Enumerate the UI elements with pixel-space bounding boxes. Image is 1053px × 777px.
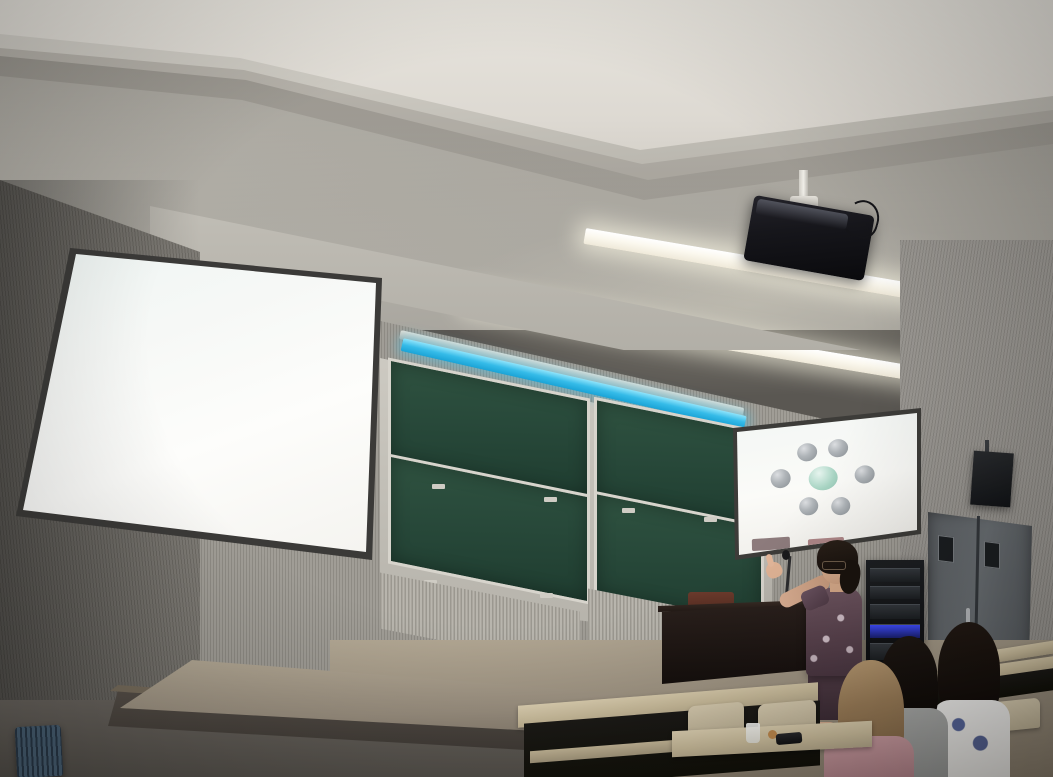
sec-node-1	[828, 439, 848, 458]
av-rack-slot-3	[870, 604, 920, 619]
projected-slide: 综合考试 学术交流 学籍管理 中期考查 学分修读 论文开题 培养工作 国际学术会…	[16, 248, 382, 560]
blackboard-clip-4	[704, 517, 717, 522]
sec-node-4	[799, 497, 818, 516]
wall-speaker-icon	[970, 451, 1014, 508]
sec-center-node	[808, 465, 837, 491]
sec-node-5	[831, 496, 850, 515]
blackboard-clip-1	[432, 484, 445, 489]
sec-node-2	[770, 468, 790, 488]
glasses-icon	[822, 561, 846, 570]
smartphone-icon	[776, 732, 803, 745]
door-window-left	[938, 535, 954, 563]
sec-node-3	[854, 465, 874, 484]
waste-basket-icon	[15, 725, 64, 777]
blackboard-clip-6	[540, 593, 553, 598]
paper-cup-icon	[746, 723, 760, 743]
blackboard-clip-2	[544, 497, 557, 502]
av-rack-slot-1	[870, 568, 920, 582]
slide-content-layer: 综合考试 学术交流 学籍管理 中期考查 学分修读 论文开题 培养工作 国际学术会…	[16, 248, 382, 560]
microphone-icon	[782, 550, 790, 560]
blackboard-clip-3	[622, 508, 635, 513]
av-rack-slot-2	[870, 586, 920, 599]
lecture-hall-photo: 综合考试 学术交流 学籍管理 中期考查 学分修读 论文开题 培养工作 国际学术会…	[0, 0, 1053, 777]
lectern	[662, 604, 808, 684]
door-window-right	[984, 541, 1000, 569]
sec-node-0	[797, 443, 817, 462]
